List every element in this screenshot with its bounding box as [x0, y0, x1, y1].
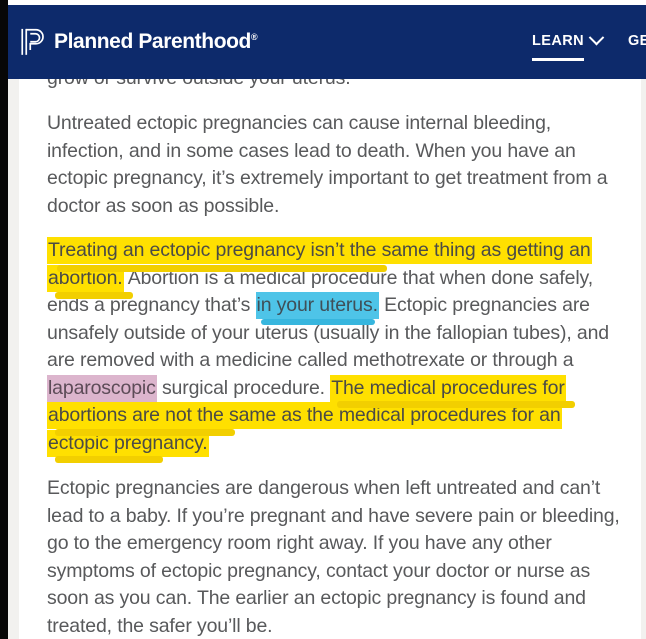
chevron-down-icon [589, 30, 605, 46]
nav-item-get-label: GET [628, 33, 646, 49]
primary-nav: LEARN GET [532, 33, 646, 52]
highlight-blue-in-your-uterus: in your uterus. [256, 292, 379, 319]
paragraph-untreated-ectopic: Untreated ectopic pregnancies can cause … [47, 110, 619, 220]
browser-left-edge [0, 0, 8, 639]
paragraph-dangerous-untreated: Ectopic pregnancies are dangerous when l… [47, 475, 622, 639]
page-gutter-right [641, 5, 646, 639]
browser-viewport: grow or survive outside your uterus. Unt… [0, 0, 646, 639]
paragraph-treating-vs-abortion: Treating an ectopic pregnancy isn’t the … [47, 237, 622, 457]
nav-item-learn-label: LEARN [532, 33, 584, 49]
text-surgical-procedure: surgical procedure. [157, 377, 331, 399]
page-gutter-left [8, 5, 19, 639]
highlight-pink-laparoscopic: laparoscopic [47, 375, 157, 402]
site-header: Planned Parenthood® LEARN GET [8, 5, 646, 79]
nav-item-learn[interactable]: LEARN [532, 33, 602, 52]
brand-name: Planned Parenthood® [54, 30, 257, 54]
nav-item-get[interactable]: GET [628, 33, 646, 52]
brand-logo-link[interactable]: Planned Parenthood® [20, 28, 257, 56]
page-canvas: grow or survive outside your uterus. Unt… [8, 5, 646, 639]
planned-parenthood-p-mark-icon [20, 28, 45, 56]
registered-mark: ® [251, 32, 257, 42]
